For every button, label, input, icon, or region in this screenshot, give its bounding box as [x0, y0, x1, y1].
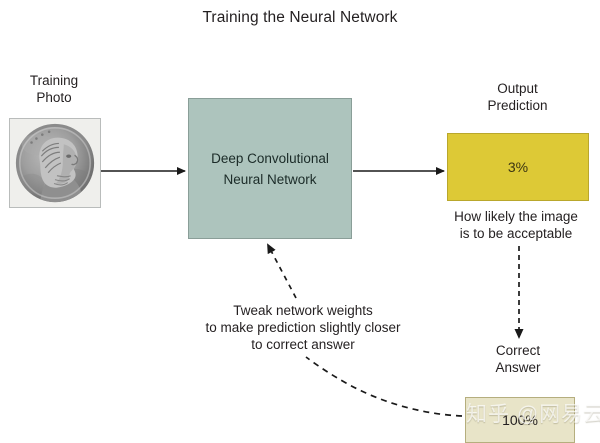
diagram-canvas: Training the Neural Network Training Pho… [0, 0, 600, 443]
output-prediction-label: Output Prediction [440, 80, 595, 114]
training-photo-frame [9, 118, 101, 208]
training-photo-label: Training Photo [4, 72, 104, 106]
arrow-tweak-to-network [268, 245, 296, 298]
ancient-coin-photo-icon [10, 119, 100, 207]
tweak-weights-annotation: Tweak network weights to make prediction… [178, 302, 428, 353]
output-prediction-box[interactable]: 3% [447, 133, 589, 201]
prediction-value: 3% [508, 159, 528, 175]
watermark: 知乎 @网易云 [466, 398, 600, 428]
prediction-caption: How likely the image is to be acceptable [432, 208, 600, 242]
diagram-title: Training the Neural Network [0, 9, 600, 26]
arrow-correct-answer-to-tweak [306, 357, 462, 416]
deep-convolutional-neural-network-box[interactable]: Deep Convolutional Neural Network [188, 98, 352, 239]
network-box-label: Deep Convolutional Neural Network [211, 148, 329, 190]
correct-answer-label: Correct Answer [448, 342, 588, 376]
